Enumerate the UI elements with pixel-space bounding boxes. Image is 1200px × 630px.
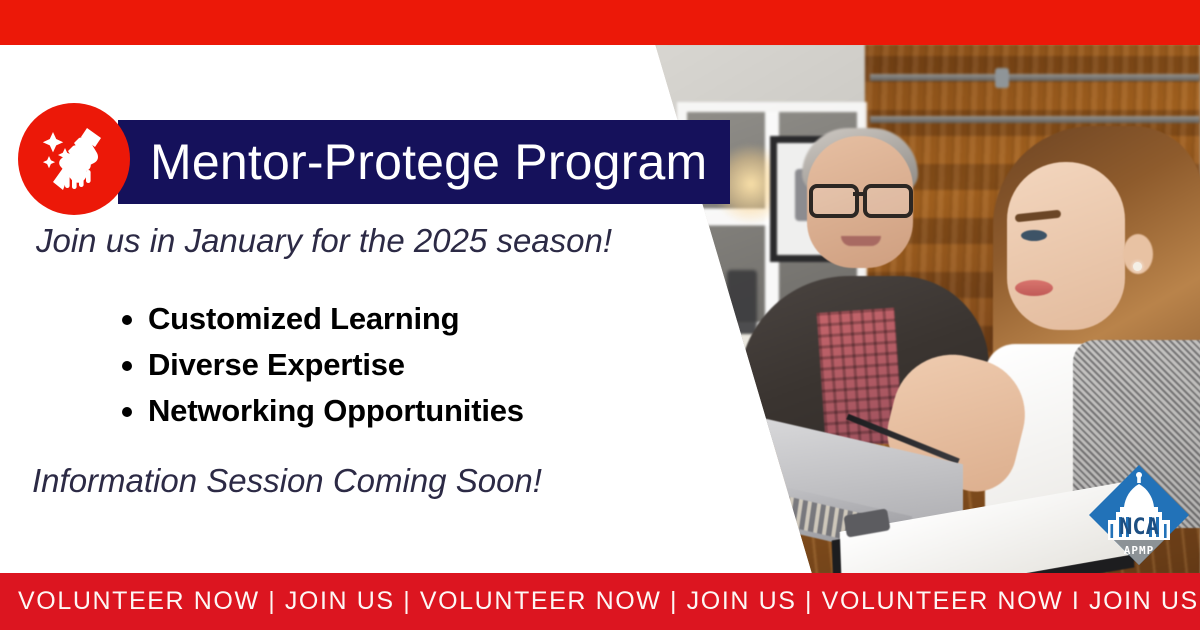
banner-content: Mentor-Protege Program [0, 0, 1200, 630]
subtitle: Join us in January for the 2025 season! [36, 222, 612, 260]
nca-wordmark: NCA [1119, 515, 1159, 540]
title-bar: Mentor-Protege Program [118, 120, 730, 204]
nca-apmp-logo: NCA APMP [1086, 462, 1192, 568]
handshake-sparkle-icon [18, 103, 130, 215]
ticker-text: VOLUNTEER NOW | JOIN US | VOLUNTEER NOW … [0, 587, 1200, 616]
page-title: Mentor-Protege Program [118, 133, 707, 191]
apmp-wordmark: APMP [1124, 544, 1155, 557]
top-red-bar [0, 0, 1200, 45]
info-session-note: Information Session Coming Soon! [32, 462, 542, 500]
mentor-protege-program-banner: Mentor-Protege Program [0, 0, 1200, 630]
bottom-ticker-bar[interactable]: VOLUNTEER NOW | JOIN US | VOLUNTEER NOW … [0, 573, 1200, 630]
benefits-list: Customized Learning Diverse Expertise Ne… [112, 296, 524, 434]
list-item: Diverse Expertise [112, 342, 524, 388]
list-item: Networking Opportunities [112, 388, 524, 434]
list-item: Customized Learning [112, 296, 524, 342]
